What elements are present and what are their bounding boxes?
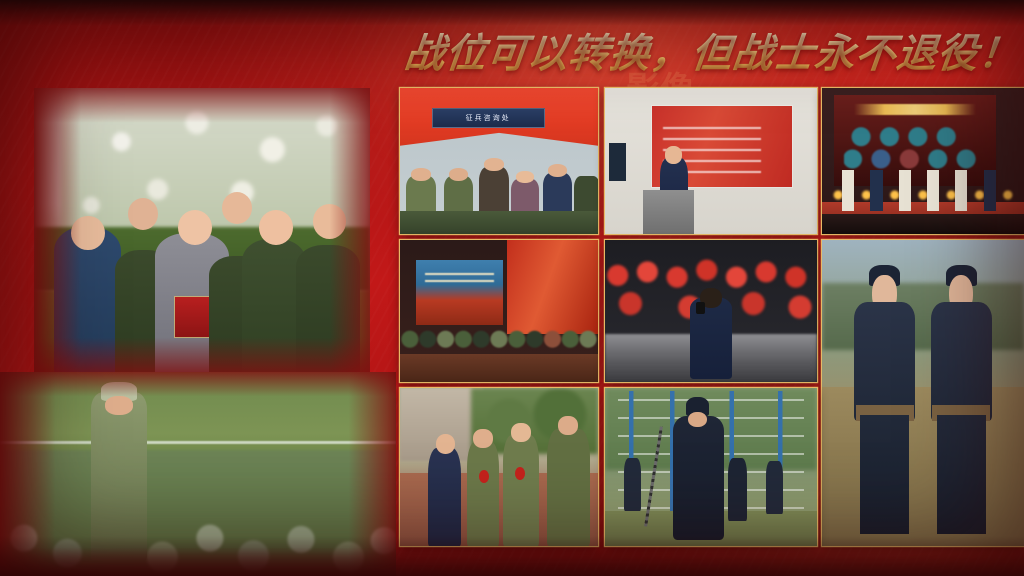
audience-scene bbox=[605, 240, 817, 382]
figure-soldier-green-4 bbox=[296, 245, 360, 378]
poster-headline: 战位可以转换，但战士永不退役！ bbox=[420, 22, 1020, 78]
group-row bbox=[400, 314, 598, 357]
photo-handshake-with-soldiers bbox=[400, 388, 598, 546]
consultation-table bbox=[400, 211, 598, 234]
background-trainee bbox=[728, 458, 747, 521]
photo-podium-lecture bbox=[605, 88, 817, 234]
field-railing bbox=[0, 441, 396, 444]
soldier-head bbox=[511, 423, 531, 442]
person-head bbox=[548, 164, 568, 177]
recruit-scene: 征兵咨询处 bbox=[400, 88, 598, 234]
soldier-figure bbox=[503, 435, 539, 546]
recruitment-banner-text: 征兵咨询处 bbox=[466, 113, 511, 123]
speaker-head bbox=[665, 146, 682, 164]
graduation-scene bbox=[34, 88, 370, 378]
main-trainee-figure bbox=[673, 416, 724, 539]
headline-text: 战位可以转换，但战士永不退役！ bbox=[402, 21, 1023, 79]
audience-silhouette bbox=[822, 214, 1024, 234]
photo-award-ceremony-stage bbox=[822, 88, 1024, 234]
person-head bbox=[411, 168, 431, 181]
soldier-head bbox=[558, 416, 578, 435]
photo-recruitment-consultation-desk: 征兵咨询处 bbox=[400, 88, 598, 234]
red-flower-badge bbox=[515, 467, 525, 480]
awardee-figure bbox=[842, 170, 854, 211]
soldier-figure bbox=[547, 429, 591, 546]
trainee-head bbox=[688, 412, 707, 428]
soldier-torso bbox=[854, 302, 915, 420]
red-flower-badge bbox=[479, 470, 489, 483]
background-trainee bbox=[766, 461, 783, 515]
dirt-ground bbox=[822, 387, 1024, 546]
instructor-head bbox=[105, 396, 133, 414]
photo-chain-pull-training bbox=[605, 388, 817, 546]
handshake-scene bbox=[400, 388, 598, 546]
instructor-figure bbox=[91, 392, 146, 559]
chain-training-scene bbox=[605, 388, 817, 546]
recruitment-banner: 征兵咨询处 bbox=[432, 108, 545, 128]
awardee-figure bbox=[899, 170, 911, 211]
soldier-right bbox=[931, 265, 992, 534]
soldier-figure bbox=[467, 442, 499, 546]
screen-caption-text bbox=[425, 272, 495, 282]
soldier-left bbox=[854, 265, 915, 534]
bottom-shadow-band bbox=[0, 536, 1024, 576]
awardee-figure bbox=[955, 170, 967, 211]
soldier-legs bbox=[937, 415, 985, 533]
figure-head bbox=[259, 210, 293, 245]
person-head bbox=[516, 171, 534, 183]
soldier-torso bbox=[931, 302, 992, 420]
led-backdrop bbox=[834, 95, 996, 186]
person-head bbox=[484, 158, 504, 171]
photo-collage-grid: 征兵咨询处 bbox=[400, 88, 1024, 546]
podium bbox=[643, 190, 694, 234]
led-title-text bbox=[854, 104, 977, 115]
auditorium-seats bbox=[400, 354, 598, 382]
two-soldiers-scene bbox=[822, 240, 1024, 546]
awardee-figure bbox=[870, 170, 882, 211]
photo-two-female-soldiers bbox=[822, 240, 1024, 546]
photo-auditorium-audience-salute bbox=[605, 240, 817, 382]
figure-head bbox=[178, 210, 212, 245]
background-trainee bbox=[624, 458, 641, 512]
ceremony-scene bbox=[822, 88, 1024, 234]
figure-head bbox=[313, 204, 347, 239]
soldier-legs bbox=[860, 415, 908, 533]
lecture-scene bbox=[605, 88, 817, 234]
figure-head bbox=[71, 216, 105, 251]
soldier-head bbox=[473, 429, 493, 448]
photo-auditorium-group-portrait bbox=[400, 240, 598, 382]
awardee-figure bbox=[984, 170, 996, 211]
side-display bbox=[609, 143, 626, 181]
awardee-figure bbox=[927, 170, 939, 211]
civilian-figure bbox=[428, 448, 462, 546]
photo-graduation-group-photo bbox=[34, 88, 370, 378]
hill-background bbox=[822, 283, 1024, 350]
microphone-icon bbox=[696, 302, 704, 313]
group-scene bbox=[400, 240, 598, 382]
poster-canvas: 战位可以转换，但战士永不退役！ 影像 bbox=[0, 0, 1024, 576]
